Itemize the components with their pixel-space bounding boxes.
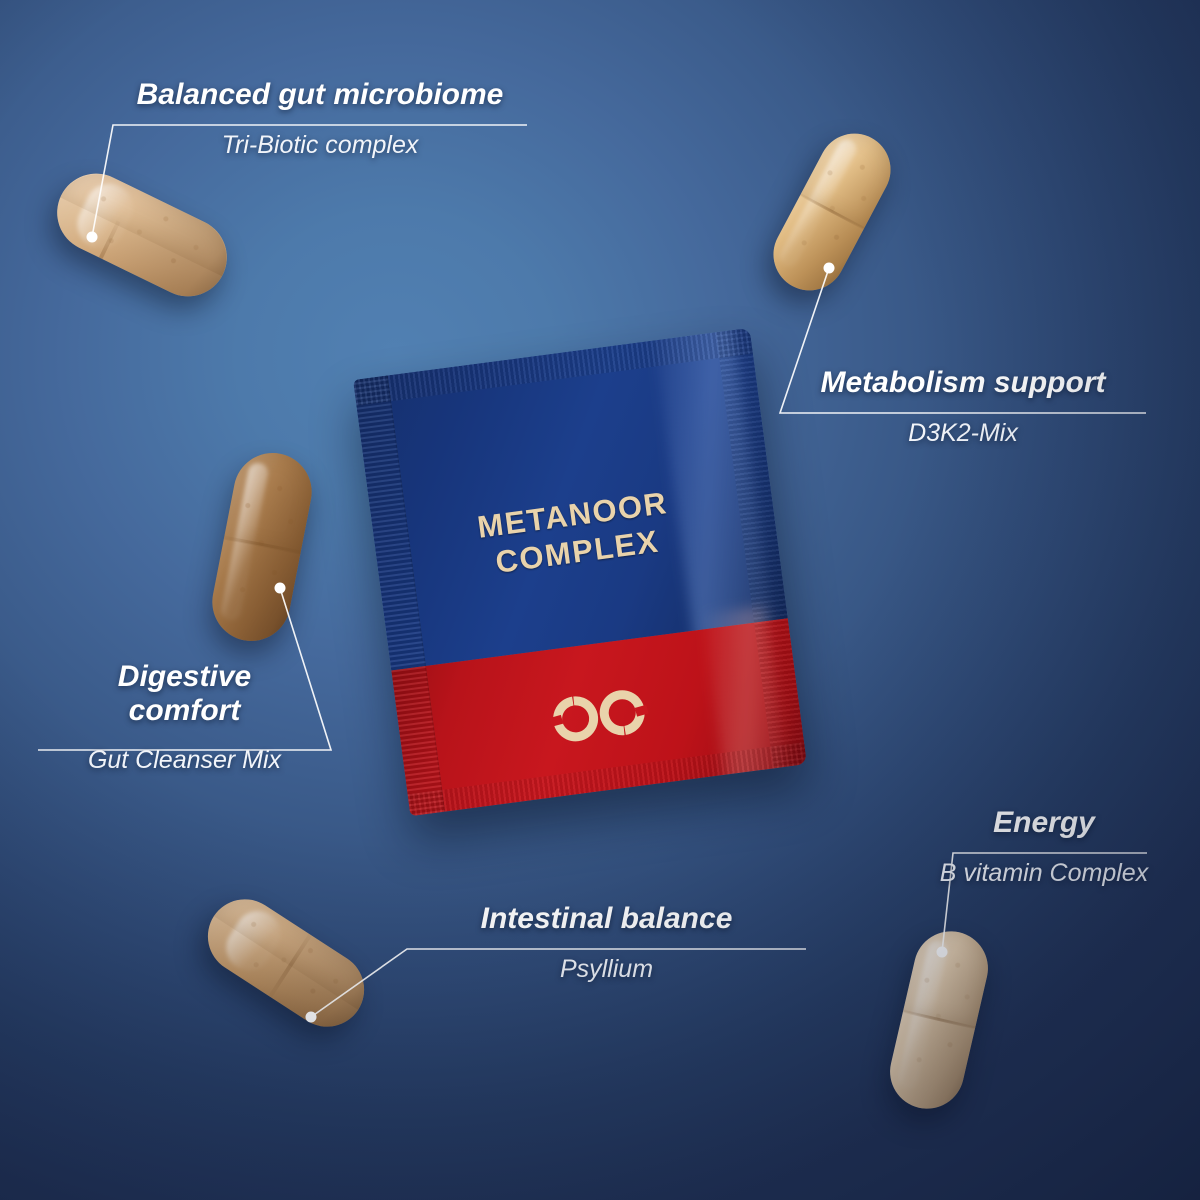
callout-subtitle: Tri-Biotic complex — [113, 130, 527, 160]
callout-intestinal-balance: Intestinal balance Psyllium — [407, 902, 806, 984]
capsule-bottom-right — [883, 924, 996, 1116]
callout-energy: Energy B vitamin Complex — [888, 806, 1200, 888]
callout-title: Energy — [888, 806, 1200, 840]
callout-subtitle: Psyllium — [407, 954, 806, 984]
capsule-bottom-left — [194, 885, 379, 1041]
callout-balanced-gut-microbiome: Balanced gut microbiome Tri-Biotic compl… — [113, 78, 527, 160]
capsule-top-left — [44, 160, 240, 309]
callout-digestive-comfort: Digestive comfort Gut Cleanser Mix — [38, 660, 331, 775]
callout-metabolism-support: Metabolism support D3K2-Mix — [780, 366, 1146, 448]
product-infographic: METANOOR COMPLEX — [0, 0, 1200, 1200]
callout-title: Digestive comfort — [38, 660, 331, 727]
callout-subtitle: Gut Cleanser Mix — [38, 745, 331, 775]
callout-title: Intestinal balance — [407, 902, 806, 936]
capsule-mid-left — [206, 446, 319, 647]
callout-subtitle: D3K2-Mix — [780, 418, 1146, 448]
callout-subtitle: B vitamin Complex — [888, 858, 1200, 888]
product-sachet: METANOOR COMPLEX — [353, 328, 807, 816]
callout-title: Metabolism support — [780, 366, 1146, 400]
callout-title: Balanced gut microbiome — [113, 78, 527, 112]
capsule-top-right — [761, 121, 903, 303]
